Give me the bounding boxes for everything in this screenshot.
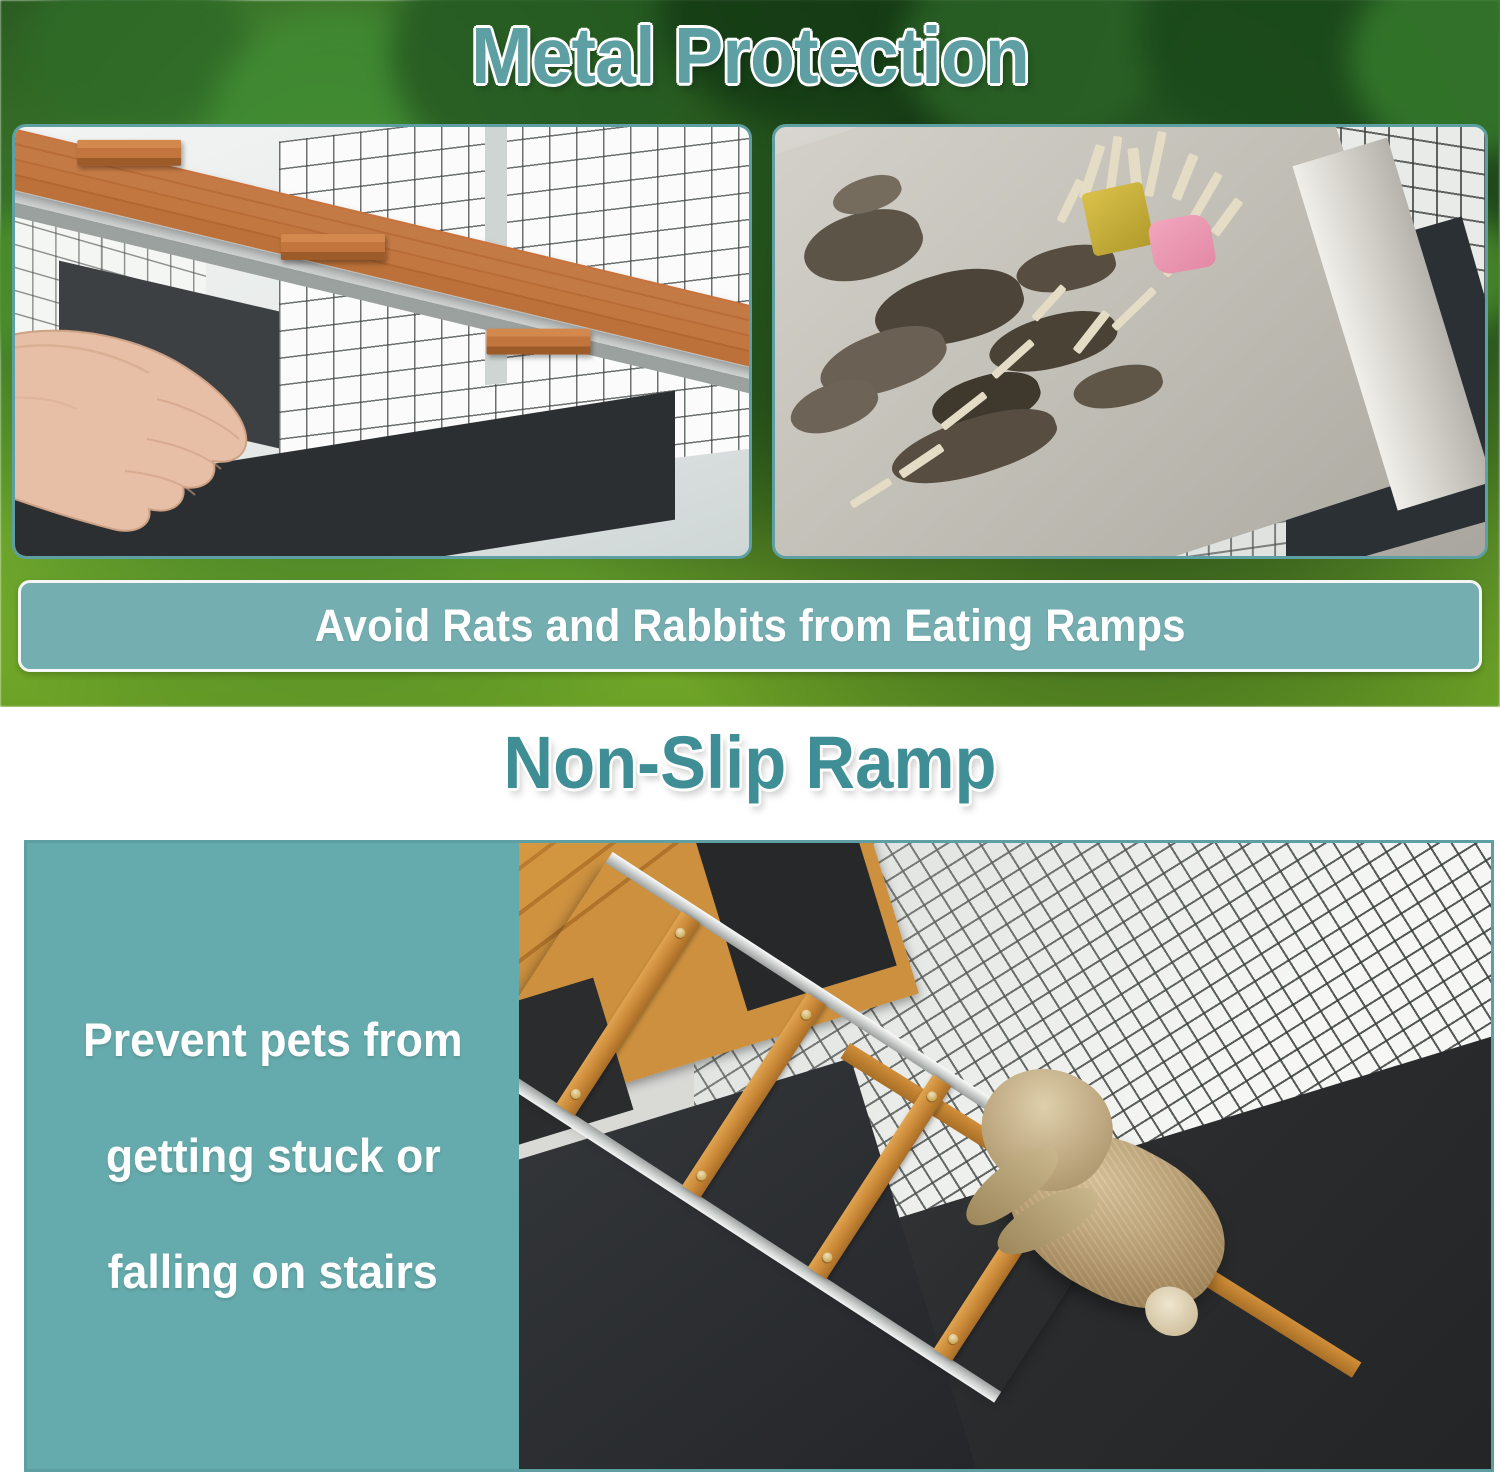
caption-banner-avoid-eating-ramps: Avoid Rats and Rabbits from Eating Ramps <box>18 580 1482 672</box>
caption-text: Avoid Rats and Rabbits from Eating Ramps <box>315 600 1186 652</box>
ramp-cleat <box>77 140 181 166</box>
benefit-text-panel: Prevent pets from getting stuck or falli… <box>27 843 519 1469</box>
ramp-cleat <box>486 329 590 355</box>
benefit-line-3: falling on stairs <box>108 1244 438 1300</box>
human-hand <box>12 303 337 559</box>
benefit-line-1: Prevent pets from <box>83 1012 463 1068</box>
yellow-debris-object <box>1081 181 1155 256</box>
pink-debris-object <box>1147 212 1217 276</box>
benefit-line-2: getting stuck or <box>106 1128 441 1184</box>
page-title-metal-protection: Metal Protection <box>60 8 1440 104</box>
ramp-cleat <box>281 234 385 260</box>
non-slip-ramp-section: Prevent pets from getting stuck or falli… <box>24 840 1494 1472</box>
ramp-in-hand-photo <box>12 124 752 559</box>
chewed-ramp-photo <box>772 124 1488 559</box>
page-title-non-slip-ramp: Non-Slip Ramp <box>53 715 1448 811</box>
rabbit-on-ramp-photo <box>519 843 1491 1469</box>
metal-protection-section: Metal Protection <box>0 0 1500 707</box>
